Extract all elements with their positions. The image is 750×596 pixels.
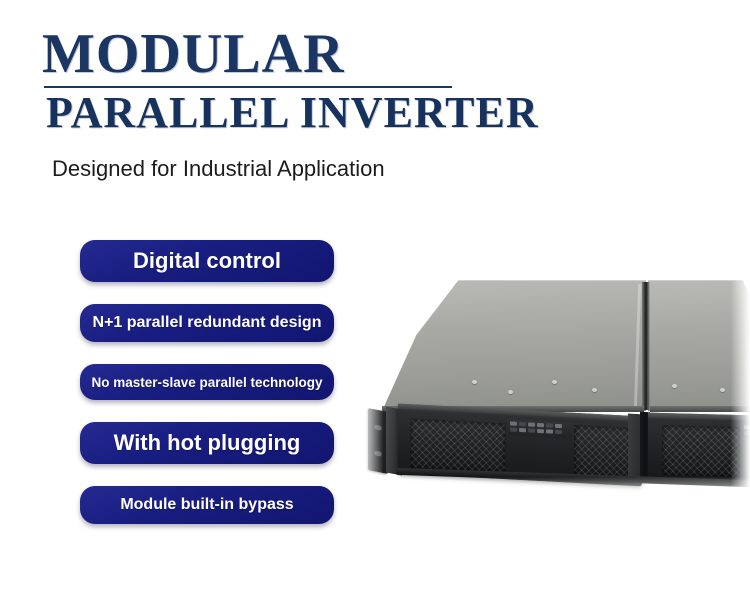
feature-pill-label: N+1 parallel redundant design bbox=[93, 314, 322, 332]
page-title: MODULAR PARALLEL INVERTER bbox=[42, 26, 512, 136]
status-led bbox=[546, 423, 553, 427]
bezel-top-lip bbox=[648, 413, 750, 421]
top-plate-screw bbox=[472, 380, 477, 384]
feature-pill-built-in-bypass[interactable]: Module built-in bypass bbox=[80, 486, 334, 524]
top-plate-screw bbox=[672, 384, 677, 388]
module-b-top-plate bbox=[648, 280, 750, 411]
top-plate-screw bbox=[592, 388, 597, 392]
status-led bbox=[546, 429, 553, 433]
status-led bbox=[528, 422, 535, 426]
led-row-bottom bbox=[744, 431, 750, 436]
module-b-front-edge bbox=[650, 406, 750, 412]
status-led bbox=[537, 423, 544, 427]
page-subtitle: Designed for Industrial Application bbox=[52, 156, 385, 182]
feature-pill-label: No master-slave parallel technology bbox=[91, 375, 322, 390]
rack-mount-ear bbox=[368, 408, 388, 474]
feature-pill-label: Digital control bbox=[133, 248, 281, 274]
title-line-parallel-inverter: PARALLEL INVERTER bbox=[42, 90, 512, 136]
rack-ear-slot bbox=[374, 449, 382, 457]
module-b-control-panel[interactable] bbox=[742, 423, 750, 438]
module-a-control-panel[interactable] bbox=[508, 419, 572, 438]
feature-pill-no-master-slave[interactable]: No master-slave parallel technology bbox=[80, 364, 334, 400]
status-led bbox=[555, 424, 562, 428]
status-led bbox=[744, 431, 750, 435]
module-a-mesh-grille-right bbox=[574, 425, 632, 480]
status-led bbox=[519, 422, 526, 426]
led-row-bottom bbox=[510, 427, 570, 434]
status-led bbox=[537, 429, 544, 433]
top-plate-screw bbox=[508, 390, 513, 394]
feature-pill-hot-plugging[interactable]: With hot plugging bbox=[80, 422, 334, 464]
product-photo-inverter-modules bbox=[360, 258, 750, 496]
top-plate-screw bbox=[720, 388, 725, 392]
title-line-modular: MODULAR bbox=[42, 26, 512, 84]
status-led bbox=[510, 427, 517, 431]
top-plate-screw bbox=[552, 380, 557, 384]
module-b-front-bezel bbox=[648, 413, 750, 482]
feature-pill-digital-control[interactable]: Digital control bbox=[80, 240, 334, 282]
module-b-mesh-grille bbox=[662, 425, 740, 477]
feature-pill-label: Module built-in bypass bbox=[120, 496, 293, 514]
rack-ear-slot bbox=[374, 423, 382, 431]
led-row-top bbox=[744, 425, 750, 430]
feature-list: Digital control N+1 parallel redundant d… bbox=[80, 240, 334, 546]
modules-top-seam bbox=[642, 282, 650, 410]
status-led bbox=[510, 421, 517, 425]
feature-pill-label: With hot plugging bbox=[114, 430, 301, 456]
module-a-top-plate bbox=[382, 280, 646, 411]
status-led bbox=[528, 428, 535, 432]
module-a-mesh-grille-left bbox=[410, 418, 506, 473]
status-led bbox=[555, 430, 562, 434]
status-led bbox=[519, 428, 526, 432]
status-led bbox=[744, 425, 750, 429]
feature-pill-n-plus-1-redundant[interactable]: N+1 parallel redundant design bbox=[80, 304, 334, 342]
